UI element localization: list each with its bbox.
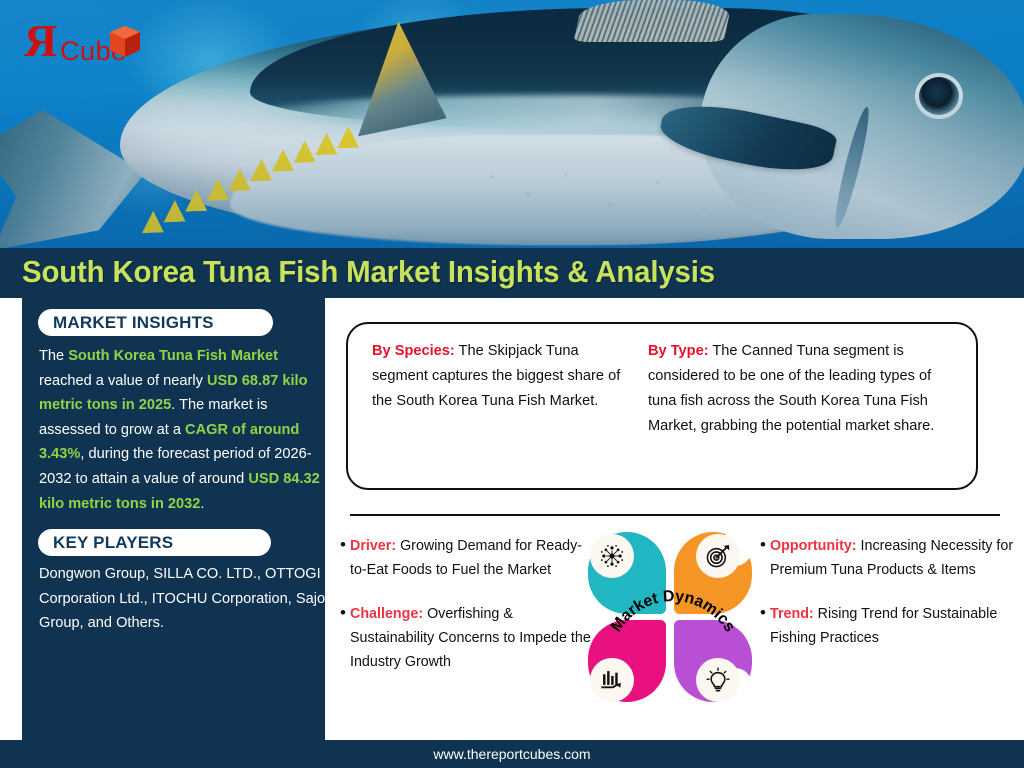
section-divider	[350, 514, 1000, 516]
bullet-dot-icon: •	[336, 534, 350, 582]
bullet-label: Trend:	[770, 606, 814, 622]
segment-by-type: By Type: The Canned Tuna segment is cons…	[648, 339, 960, 439]
bullet-text: Challenge: Overfishing & Sustainability …	[350, 602, 591, 674]
bullet-text: Driver: Growing Demand for Ready-to-Eat …	[350, 534, 591, 582]
bullet-text: Trend: Rising Trend for Sustainable Fish…	[770, 602, 1014, 650]
title-bar: South Korea Tuna Fish Market Insights & …	[0, 248, 1024, 298]
infographic-page: Я Cube South Korea Tuna Fish Market Insi…	[0, 0, 1024, 768]
bullet-label: Driver:	[350, 538, 396, 554]
bullet-item: •Challenge: Overfishing & Sustainability…	[336, 602, 591, 674]
paragraph-text: The	[39, 348, 68, 364]
bar-chart-arrow-icon	[590, 658, 634, 702]
bullet-label: Challenge:	[350, 606, 423, 622]
market-dynamics-graphic: Market Dynamics	[586, 528, 758, 714]
bullet-dot-icon: •	[756, 602, 770, 650]
network-nodes-icon	[590, 534, 634, 578]
bullet-dot-icon: •	[756, 534, 770, 582]
cube-icon	[108, 24, 142, 62]
bullet-item: •Driver: Growing Demand for Ready-to-Eat…	[336, 534, 591, 582]
segment-summary-box: By Species: The Skipjack Tuna segment ca…	[346, 322, 978, 490]
segment-by-species-label: By Species:	[372, 343, 455, 359]
logo-letter: Я	[24, 18, 57, 64]
footer-bar: www.thereportcubes.com	[0, 740, 1024, 768]
segment-by-type-label: By Type:	[648, 343, 709, 359]
key-players-paragraph: Dongwon Group, SILLA CO. LTD., OTTOGI Co…	[39, 562, 326, 636]
segment-by-species: By Species: The Skipjack Tuna segment ca…	[372, 339, 624, 414]
page-title: South Korea Tuna Fish Market Insights & …	[22, 254, 715, 290]
left-sidebar: MARKET INSIGHTS The South Korea Tuna Fis…	[22, 298, 325, 740]
paragraph-text: Dongwon Group, SILLA CO. LTD., OTTOGI Co…	[39, 566, 325, 631]
highlighted-phrase: South Korea Tuna Fish Market	[68, 348, 278, 364]
bullet-label: Opportunity:	[770, 538, 857, 554]
market-insights-label: MARKET INSIGHTS	[53, 313, 214, 333]
key-players-label: KEY PLAYERS	[53, 533, 173, 553]
hero-vignette	[0, 0, 1024, 248]
paragraph-text: .	[200, 496, 204, 512]
footer-url: www.thereportcubes.com	[433, 746, 590, 762]
bullets-left-column: •Driver: Growing Demand for Ready-to-Eat…	[336, 534, 591, 694]
hero-banner: Я Cube	[0, 0, 1024, 248]
bullet-dot-icon: •	[336, 602, 350, 674]
bullet-item: •Opportunity: Increasing Necessity for P…	[756, 534, 1014, 582]
bullet-text: Opportunity: Increasing Necessity for Pr…	[770, 534, 1014, 582]
target-arrow-icon	[696, 534, 740, 578]
main-content-panel: By Species: The Skipjack Tuna segment ca…	[328, 298, 1024, 740]
lightbulb-icon	[696, 658, 740, 702]
market-insights-paragraph: The South Korea Tuna Fish Market reached…	[39, 344, 326, 516]
market-insights-pill: MARKET INSIGHTS	[38, 309, 273, 336]
key-players-pill: KEY PLAYERS	[38, 529, 271, 556]
paragraph-text: reached a value of nearly	[39, 373, 207, 389]
bullet-item: •Trend: Rising Trend for Sustainable Fis…	[756, 602, 1014, 650]
bullets-right-column: •Opportunity: Increasing Necessity for P…	[756, 534, 1014, 670]
